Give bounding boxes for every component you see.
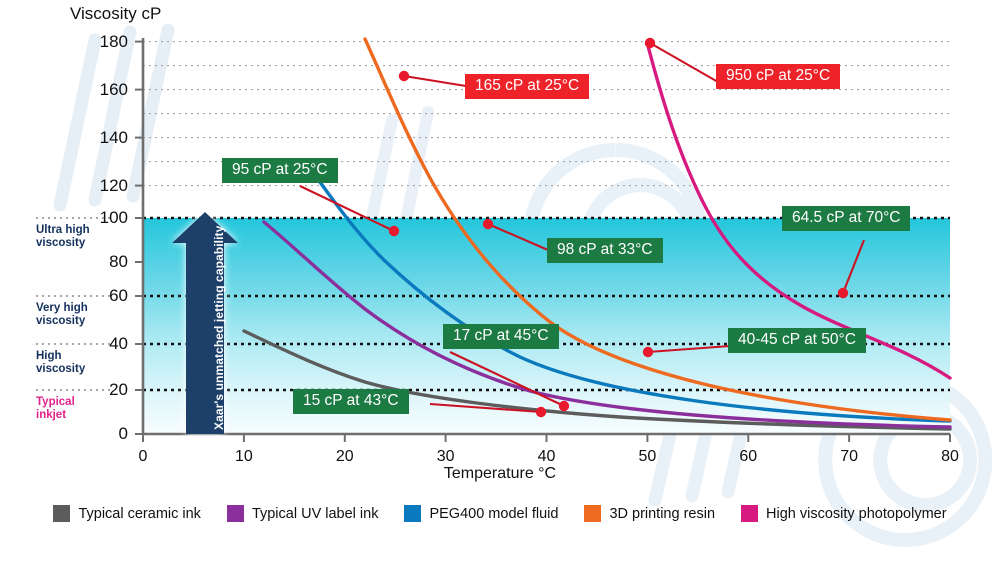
legend-item-typical-uv-label-ink: Typical UV label ink bbox=[227, 505, 379, 522]
band-label-line2: viscosity bbox=[36, 315, 85, 327]
callout-950-cp-at-25c: 950 cP at 25°C bbox=[716, 64, 840, 89]
legend-swatch-icon bbox=[404, 505, 421, 522]
x-tick-60: 60 bbox=[728, 448, 768, 466]
band-label-line2: viscosity bbox=[36, 237, 85, 249]
callout-40-45-cp-at-50c: 40-45 cP at 50°C bbox=[728, 328, 866, 353]
legend-item-peg400-model-fluid: PEG400 model fluid bbox=[404, 505, 558, 522]
legend-label: PEG400 model fluid bbox=[429, 506, 558, 522]
callout-17-cp-at-45c: 17 cP at 45°C bbox=[443, 324, 559, 349]
band-label-typical-inkjet: Typical inkjet bbox=[36, 396, 102, 422]
band-label-line2: viscosity bbox=[36, 363, 85, 375]
x-tick-50: 50 bbox=[627, 448, 667, 466]
y-tick-160: 160 bbox=[68, 80, 128, 100]
legend-item-typical-ceramic-ink: Typical ceramic ink bbox=[53, 505, 200, 522]
x-tick-80: 80 bbox=[930, 448, 970, 466]
band-label-line2: inkjet bbox=[36, 409, 66, 421]
legend-swatch-icon bbox=[584, 505, 601, 522]
band-label-line1: Typical bbox=[36, 396, 75, 408]
callout-95-cp-at-25c: 95 cP at 25°C bbox=[222, 158, 338, 183]
band-label-line1: Ultra high bbox=[36, 224, 90, 236]
x-axis-title: Temperature °C bbox=[0, 465, 1000, 483]
x-tick-40: 40 bbox=[527, 448, 567, 466]
y-tick-0: 0 bbox=[68, 424, 128, 444]
legend: Typical ceramic ink Typical UV label ink… bbox=[0, 505, 1000, 522]
callout-165-cp-at-25c: 165 cP at 25°C bbox=[465, 74, 589, 99]
legend-swatch-icon bbox=[741, 505, 758, 522]
legend-swatch-icon bbox=[53, 505, 70, 522]
legend-swatch-icon bbox=[227, 505, 244, 522]
legend-label: High viscosity photopolymer bbox=[766, 506, 947, 522]
x-tick-10: 10 bbox=[224, 448, 264, 466]
x-tick-20: 20 bbox=[325, 448, 365, 466]
band-label-line1: Very high bbox=[36, 302, 88, 314]
legend-label: Typical ceramic ink bbox=[78, 506, 200, 522]
band-label-line1: High bbox=[36, 350, 62, 362]
chart-root: Viscosity cP Temperature °C bbox=[0, 0, 1000, 579]
callout-98-cp-at-33c: 98 cP at 33°C bbox=[547, 238, 663, 263]
x-tick-0: 0 bbox=[123, 448, 163, 466]
legend-item-3d-printing-resin: 3D printing resin bbox=[584, 505, 715, 522]
y-axis-title: Viscosity cP bbox=[70, 4, 161, 24]
y-tick-120: 120 bbox=[68, 176, 128, 196]
band-label-ultra-high-viscosity: Ultra high viscosity bbox=[36, 224, 102, 250]
jetting-capability-arrow-label: Xaar's unmatched jetting capability bbox=[212, 226, 226, 430]
y-tick-80: 80 bbox=[68, 252, 128, 272]
x-tick-30: 30 bbox=[426, 448, 466, 466]
callout-64-5-cp-at-70c: 64.5 cP at 70°C bbox=[782, 206, 910, 231]
band-label-very-high-viscosity: Very high viscosity bbox=[36, 302, 102, 328]
legend-label: 3D printing resin bbox=[609, 506, 715, 522]
y-tick-140: 140 bbox=[68, 128, 128, 148]
band-label-high-viscosity: High viscosity bbox=[36, 350, 102, 376]
y-tick-180: 180 bbox=[68, 32, 128, 52]
legend-item-high-viscosity-photopolymer: High viscosity photopolymer bbox=[741, 505, 947, 522]
callout-15-cp-at-43c: 15 cP at 43°C bbox=[293, 389, 409, 414]
x-tick-70: 70 bbox=[829, 448, 869, 466]
legend-label: Typical UV label ink bbox=[252, 506, 379, 522]
